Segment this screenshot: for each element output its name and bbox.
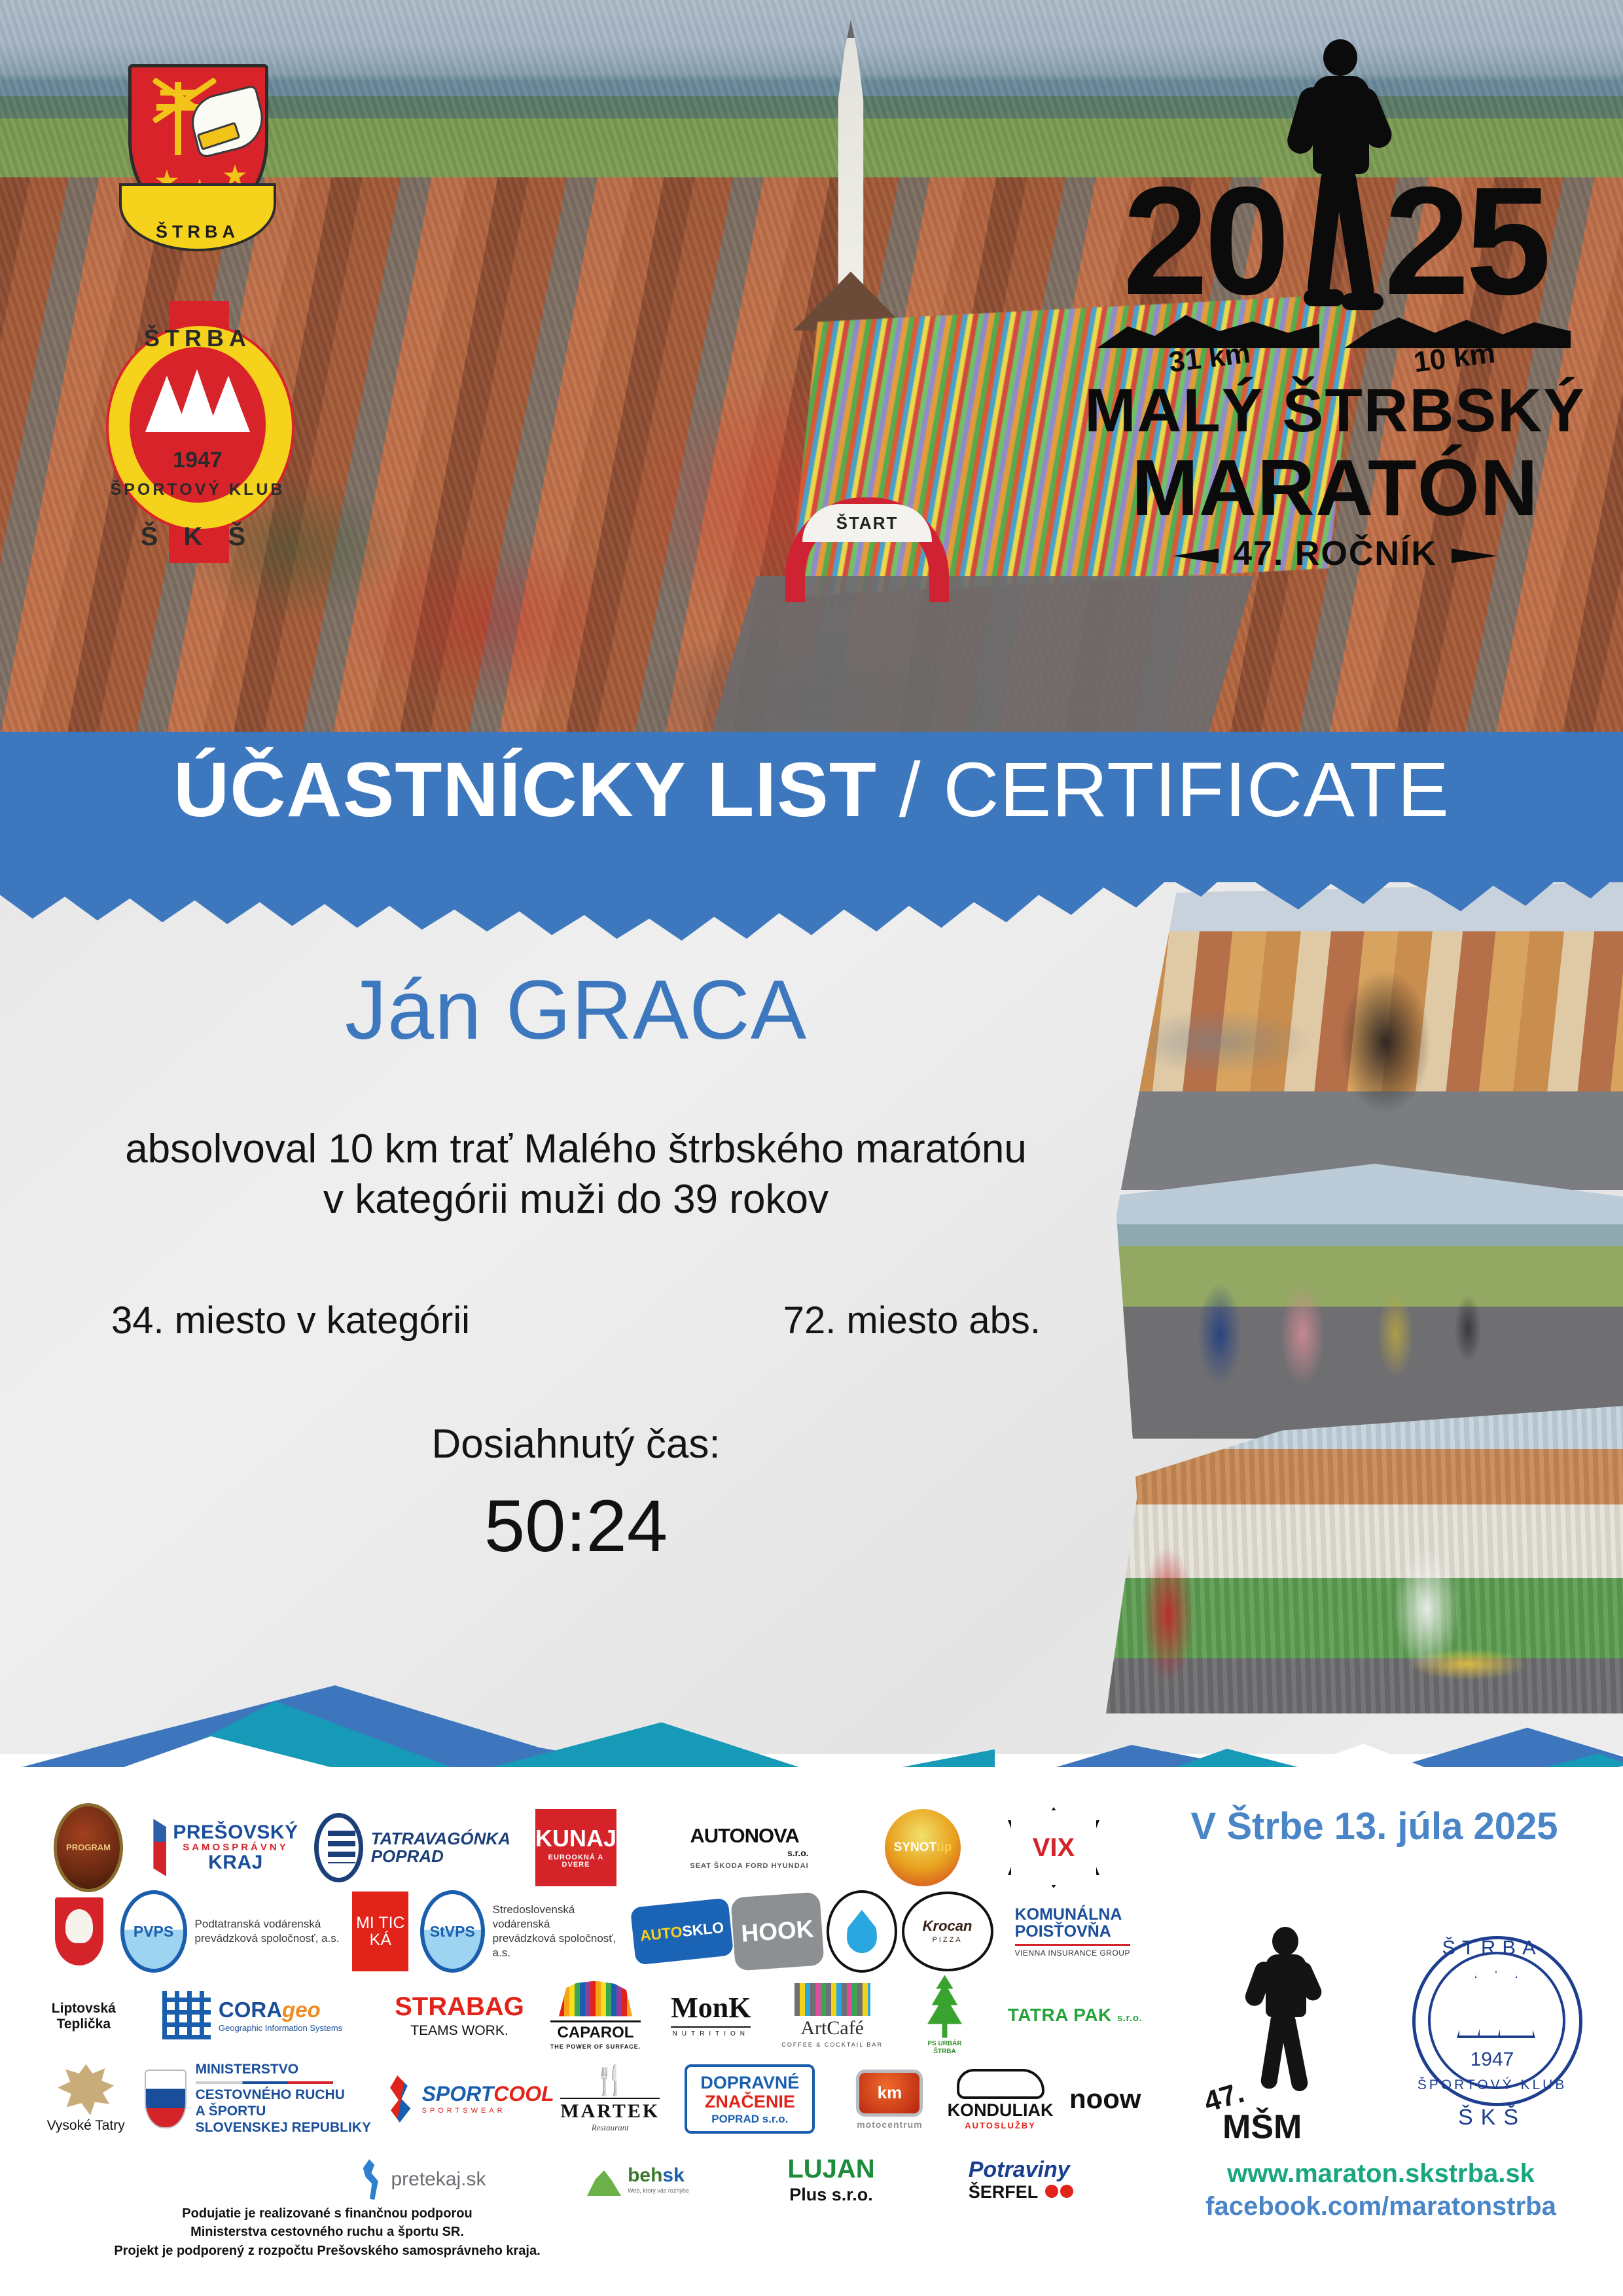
sponsor-vysoke-tatry[interactable]: Vysoké Tatry <box>39 2056 132 2142</box>
tatrapak-label: TATRA PAK <box>1008 2005 1112 2025</box>
potraviny-dots-icon <box>1043 2183 1073 2201</box>
sponsor-tatravagonka[interactable]: TATRAVAGÓNKA POPRAD <box>314 1805 510 1890</box>
sponsor-row-3: Liptovská Teplička CORAgeo Geographic In… <box>39 1973 1152 2058</box>
sponsor-miticka[interactable]: MI TIC KÁ <box>341 1889 420 1974</box>
cross-bar-icon-2 <box>160 90 196 96</box>
stvps-desc1: Stredoslovenská vodárenská <box>493 1903 632 1931</box>
beh-sub: Web, ktorý vás rozhýbe <box>628 2188 689 2194</box>
potraviny-label: Potraviny <box>969 2159 1074 2181</box>
sponsor-program-trencin[interactable]: PROGRAM <box>39 1805 137 1890</box>
km-sub: motocentrum <box>856 2120 923 2129</box>
komunalna-sub: VIENNA INSURANCE GROUP <box>1015 1944 1130 1957</box>
photo-runners-hill <box>1106 1164 1623 1439</box>
coat-ribbon: ŠTRBA <box>119 183 276 251</box>
monk-label: MonK <box>671 1994 751 2022</box>
strabag-sub: TEAMS WORK. <box>395 2024 524 2037</box>
event-year-right: 25 <box>1384 164 1547 317</box>
sponsor-martek[interactable]: 🍴 MARTEK Restaurant <box>558 2056 662 2142</box>
photo-collage <box>1106 882 1623 1713</box>
sponsor-autonova[interactable]: AUTONOVA s.r.o. SEAT ŠKODA FORD HYUNDAI <box>641 1805 857 1890</box>
dz-line2: ZNAČENIE <box>705 2092 795 2111</box>
kunaj-label: KUNAJ <box>535 1827 616 1850</box>
fineprint-line-3: Projekt je podporený z rozpočtu Prešovsk… <box>79 2242 576 2260</box>
pvps-desc1: Podtatranská vodárenská <box>195 1917 340 1931</box>
sponsor-synottip[interactable]: SYNOTtip <box>857 1805 988 1890</box>
cora-grid-icon <box>162 1991 211 2039</box>
kunaj-sub: EUROOKNÁ A DVERE <box>535 1854 616 1869</box>
urbar-sub: ŠTRBA <box>933 2048 955 2055</box>
ministerstvo-line2: CESTOVNÉHO RUCHU <box>196 2087 345 2102</box>
liptovska-label: Liptovská Teplička <box>52 2001 116 2032</box>
stamp-bottom-label: ŠKŠ <box>1394 2105 1590 2130</box>
emblem-year-label: 1947 <box>99 448 296 473</box>
certificate-content: Ján GRACA absolvoval 10 km trať Malého š… <box>0 969 1152 1563</box>
sponsor-artcafe[interactable]: ArtCafé COFFEE & COCKTAIL BAR <box>773 1973 891 2058</box>
sponsor-presovsky-kraj[interactable]: PREŠOVSKÝ SAMOSPRÁVNY KRAJ <box>137 1805 314 1890</box>
pd-strba-icon <box>827 1890 897 1973</box>
stamp-arc-label: ŠPORTOVÝ KLUB <box>1394 2077 1590 2093</box>
konduliak-sub: AUTOSLUŽBY <box>948 2121 1054 2130</box>
sponsor-liptovska-label-cell[interactable]: Liptovská Teplička <box>39 1973 128 2058</box>
pvps-abbr: PVPS <box>120 1890 187 1973</box>
banner-title: ÚČASTNÍCKY LIST / CERTIFICATE <box>0 751 1623 829</box>
sportcool-flame-icon <box>387 2075 417 2123</box>
vix-label: VIX <box>1008 1807 1099 1888</box>
lujan-label: LUJAN <box>787 2156 874 2182</box>
banner-title-light: / CERTIFICATE <box>877 747 1450 833</box>
krocan-sub: PIZZA <box>932 1936 962 1944</box>
sponsor-sportcool[interactable]: SPORTCOOL SPORTSWEAR <box>383 2056 558 2142</box>
runners-icon <box>358 2159 384 2200</box>
sponsor-row-2: PVPS Podtatranská vodárenská prevádzková… <box>39 1889 1152 1974</box>
miticka-label: MI TIC KÁ <box>352 1892 408 1971</box>
msm-abbrev-label: MŠM <box>1222 2108 1302 2147</box>
event-logo-lockup: 2025 31 km 10 km MALÝ ŠTRBSKÝ MARATÓN 47… <box>1073 39 1597 615</box>
footer: PROGRAM PREŠOVSKÝ SAMOSPRÁVNY KRAJ TATRA… <box>0 1767 1623 2296</box>
sponsor-noow[interactable]: noow <box>1059 2056 1152 2142</box>
sponsor-caparol[interactable]: CAPAROL THE POWER OF SURFACE. <box>543 1973 649 2058</box>
ministerstvo-line3: A ŠPORTU <box>196 2104 266 2119</box>
cora-accent: geo <box>282 1998 321 2022</box>
presovsky-line3: KRAJ <box>208 1852 263 1873</box>
msm-emblem: 47. MŠM <box>1204 1927 1374 2143</box>
autosklo-label: AUTO <box>639 1923 683 1945</box>
hook-label: HOOK <box>730 1892 824 1971</box>
urbar-label: PS URBÁR <box>927 2040 961 2047</box>
place-category: 34. miesto v kategórii <box>111 1299 470 1342</box>
cross-bar-icon <box>156 104 200 111</box>
artcafe-label: ArtCafé <box>781 2018 883 2038</box>
autonova-sub: s.r.o. <box>690 1848 808 1857</box>
sponsor-monk[interactable]: MonK NUTRITION <box>649 1973 773 2058</box>
fineprint-line-1: Podujatie je realizované s finančnou pod… <box>79 2204 576 2223</box>
artcafe-stripes-icon <box>794 1983 870 2016</box>
ministerstvo-line1: MINISTERSTVO <box>196 2062 299 2077</box>
sponsor-dopravne-znacenie[interactable]: DOPRAVNÉZNAČENIE POPRAD s.r.o. <box>662 2056 837 2142</box>
msm-runner-icon <box>1247 1927 1319 2090</box>
konduliak-label: KONDULIAK <box>948 2102 1054 2119</box>
tatravagonka-line2: POPRAD <box>371 1848 510 1865</box>
footer-links: www.maraton.skstrba.sk facebook.com/mara… <box>1171 2157 1590 2223</box>
event-title-line1: MALÝ ŠTRBSKÝ <box>1073 380 1597 441</box>
website-link[interactable]: www.maraton.skstrba.sk <box>1171 2157 1590 2190</box>
emblem-arc-label: ŠPORTOVÝ KLUB <box>99 480 296 499</box>
beh-label: beh <box>628 2164 662 2186</box>
sponsor-row-4: Vysoké Tatry MINISTERSTVO CESTOVNÉHO RUC… <box>39 2056 1152 2142</box>
sponsor-ps-urbar-strba[interactable]: PS URBÁR ŠTRBA <box>891 1973 998 2058</box>
arm-icon <box>186 84 270 159</box>
sponsor-pd-strba[interactable] <box>822 1889 901 1974</box>
sportcool-sub: SPORTSWEAR <box>422 2108 554 2115</box>
caparol-sub: THE POWER OF SURFACE. <box>550 2044 641 2050</box>
hero-photo-banner: ŠTART ŠTRBA <box>0 0 1623 740</box>
footer-emblems: 47. MŠM ŠTRBA 1947 ŠPORTOVÝ KLUB ŠKŠ <box>1198 1907 1603 2143</box>
sponsor-ministerstvo[interactable]: MINISTERSTVO CESTOVNÉHO RUCHU A ŠPORTU S… <box>132 2056 383 2142</box>
emblem-bottom-label: Š K Š <box>99 522 296 552</box>
sponsor-logos: PROGRAM PREŠOVSKÝ SAMOSPRÁVNY KRAJ TATRA… <box>39 1805 1152 2217</box>
presovsky-line1: PREŠOVSKÝ <box>173 1821 298 1843</box>
liptovska-crest-icon <box>55 1897 103 1965</box>
coat-ribbon-label: ŠTRBA <box>122 222 274 242</box>
footer-fineprint: Podujatie je realizované s finančnou pod… <box>79 2204 576 2260</box>
event-edition-label: 47. ROČNÍK <box>1233 535 1437 573</box>
sportcool-accent: COOL <box>493 2082 554 2106</box>
event-year-left: 20 <box>1123 164 1286 317</box>
placement-row: 34. miesto v kategórii 72. miesto abs. <box>0 1299 1152 1342</box>
time-label: Dosiahnutý čas: <box>0 1421 1152 1467</box>
flag-bar-icon <box>153 1819 166 1876</box>
km-label: km <box>856 2070 923 2117</box>
sponsor-km-motocentrum[interactable]: km motocentrum <box>837 2056 942 2142</box>
noow-label: noow <box>1069 2085 1141 2113</box>
tatravagonka-line1: TATRAVAGÓNKA <box>371 1830 510 1848</box>
sponsor-tatrapak[interactable]: TATRA PAK s.r.o. <box>998 1973 1152 2058</box>
tatravagonka-ring-icon <box>314 1813 363 1882</box>
sponsor-hook[interactable]: HOOK <box>732 1889 822 1974</box>
facebook-link[interactable]: facebook.com/maratonstrba <box>1171 2190 1590 2223</box>
caparol-elephant-icon <box>559 1981 632 2017</box>
stamp-top-label: ŠTRBA <box>1394 1936 1590 1960</box>
sponsor-liptovska-teplicka[interactable] <box>39 1889 118 1974</box>
banner-title-bold: ÚČASTNÍCKY LIST <box>173 747 877 833</box>
sponsor-krocan-pizza[interactable]: Krocan PIZZA <box>902 1889 993 1974</box>
komunalna-line1: KOMUNÁLNA <box>1015 1905 1122 1924</box>
cora-sub: Geographic Information Systems <box>219 2024 342 2032</box>
stvps-abbr: StVPS <box>420 1890 485 1973</box>
car-icon <box>957 2069 1044 2099</box>
sponsor-kunaj[interactable]: KUNAJ EUROOKNÁ A DVERE <box>510 1805 641 1890</box>
potraviny-sub: ŠERFEL <box>969 2182 1039 2202</box>
sponsor-lujan[interactable]: LUJAN Plus s.r.o. <box>746 2140 916 2219</box>
sponsor-komunalna-poistovna[interactable]: KOMUNÁLNA POISŤOVŇA VIENNA INSURANCE GRO… <box>993 1889 1152 1974</box>
sks-stamp-emblem: ŠTRBA 1947 ŠPORTOVÝ KLUB ŠKŠ <box>1394 1914 1590 2143</box>
arrow-left-icon <box>1173 548 1219 563</box>
certificate-description: absolvoval 10 km trať Malého štrbského m… <box>0 1124 1152 1225</box>
sks-club-emblem: ŠTRBA 1947 ŠPORTOVÝ KLUB Š K Š <box>99 301 296 563</box>
sponsor-vix[interactable]: VIX <box>988 1805 1119 1890</box>
strba-coat-of-arms: ŠTRBA <box>119 64 271 260</box>
krocan-label: Krocan <box>923 1919 972 1933</box>
sponsor-row-1: PROGRAM PREŠOVSKÝ SAMOSPRÁVNY KRAJ TATRA… <box>39 1805 1152 1890</box>
sportcool-label: SPORT <box>422 2082 494 2106</box>
emblem-top-label: ŠTRBA <box>99 325 296 352</box>
place-absolute: 72. miesto abs. <box>783 1299 1041 1342</box>
mountain-icon <box>145 369 250 432</box>
martek-sub: Restaurant <box>560 2123 660 2132</box>
autonova-brands: SEAT ŠKODA FORD HYUNDAI <box>690 1863 808 1870</box>
stamp-mountain-icon <box>1457 1975 1530 2038</box>
tatrapak-sub: s.r.o. <box>1117 2013 1142 2024</box>
lujan-sub: Plus s.r.o. <box>787 2186 874 2204</box>
event-edition: 47. ROČNÍK <box>1073 537 1597 571</box>
sponsor-strabag[interactable]: STRABAG TEAMS WORK. <box>376 1973 542 2058</box>
sponsor-potraviny-serfel[interactable]: Potraviny ŠERFEL <box>916 2140 1126 2219</box>
komunalna-line2: POISŤOVŇA <box>1015 1922 1111 1941</box>
time-value: 50:24 <box>0 1490 1152 1563</box>
dz-line3: POPRAD s.r.o. <box>700 2113 799 2125</box>
stvps-desc2: prevádzková spoločnosť, a.s. <box>493 1931 632 1960</box>
fineprint-line-2: Ministerstva cestovného ruchu a športu S… <box>79 2223 576 2241</box>
ministerstvo-line4: SLOVENSKEJ REPUBLIKY <box>196 2120 371 2135</box>
certificate-page: ŠTART ŠTRBA <box>0 0 1623 2296</box>
monk-sub: NUTRITION <box>671 2026 751 2037</box>
description-line-2: v kategórii muži do 39 rokov <box>0 1175 1152 1225</box>
photo-finish-runner <box>1106 882 1623 1190</box>
participant-name: Ján GRACA <box>0 969 1152 1052</box>
synot-accent: tip <box>936 1840 952 1855</box>
sponsor-stvps[interactable]: StVPS Stredoslovenská vodárenská prevádz… <box>420 1889 632 1974</box>
event-year: 2025 <box>1073 164 1597 317</box>
slovak-crest-icon <box>145 2070 187 2128</box>
cora-label: CORA <box>219 1998 282 2022</box>
artcafe-sub: COFFEE & COCKTAIL BAR <box>781 2042 883 2048</box>
autonova-label: AUTONOVA <box>690 1825 808 1846</box>
arrow-right-icon <box>1452 548 1497 563</box>
beh-accent: sk <box>662 2164 684 2186</box>
ministerstvo-divider <box>196 2081 333 2084</box>
synot-label: SYNOT <box>894 1840 936 1855</box>
distance-badges: 31 km 10 km <box>1073 298 1597 384</box>
sponsor-konduliak[interactable]: KONDULIAK AUTOSLUŽBY <box>942 2056 1059 2142</box>
cutlery-icon: 🍴 <box>560 2066 660 2095</box>
beh-swoosh-icon <box>587 2163 621 2196</box>
description-line-1: absolvoval 10 km trať Malého štrbského m… <box>0 1124 1152 1175</box>
sponsor-pvps[interactable]: PVPS Podtatranská vodárenská prevádzková… <box>118 1889 340 1974</box>
tree-icon <box>923 1975 966 2038</box>
dz-line1: DOPRAVNÉ <box>700 2073 799 2092</box>
strabag-label: STRABAG <box>395 1994 524 2020</box>
sponsor-autosklo[interactable]: AUTOSKLO <box>632 1889 732 1974</box>
martek-label: MARTEK <box>560 2098 660 2122</box>
program-trencin-label: PROGRAM <box>54 1803 123 1892</box>
autosklo-accent: SKLO <box>681 1918 724 1941</box>
event-title-line2: MARATÓN <box>1073 448 1597 528</box>
edelweiss-icon <box>58 2064 114 2115</box>
footer-date: V Štrbe 13. júla 2025 <box>1171 1808 1577 1846</box>
stamp-year-label: 1947 <box>1394 2049 1590 2071</box>
sponsor-corageo[interactable]: CORAgeo Geographic Information Systems <box>128 1973 377 2058</box>
caparol-label: CAPAROL <box>550 2020 641 2041</box>
pvps-desc2: prevádzková spoločnosť, a.s. <box>195 1931 340 1946</box>
pretekaj-label: pretekaj.sk <box>391 2168 486 2191</box>
vysoke-tatry-label: Vysoké Tatry <box>47 2118 125 2134</box>
